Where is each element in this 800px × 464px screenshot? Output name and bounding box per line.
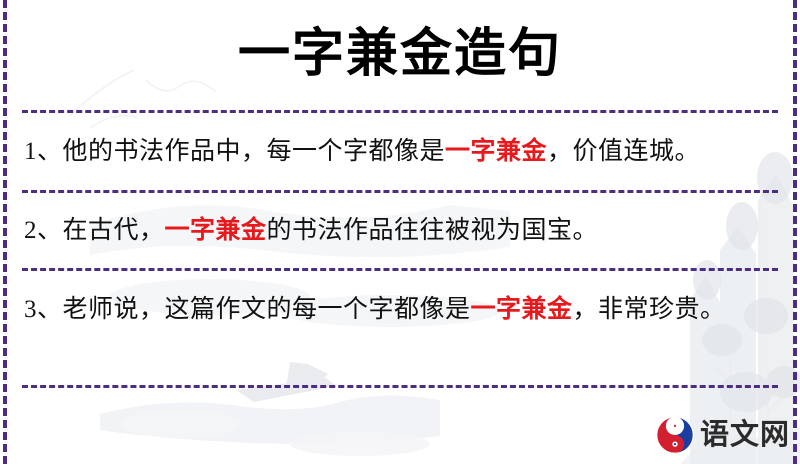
divider-2 — [22, 190, 778, 193]
divider-3 — [22, 268, 778, 271]
sentence-text-after-1: ，价值连城。 — [547, 138, 700, 165]
sentence-text-before-3: 老师说，这篇作文的每一个字都像是 — [63, 296, 471, 323]
sentence-text-after-3: ，非常珍贵。 — [573, 296, 726, 323]
site-logo-text: 语文网 — [700, 418, 790, 452]
sentence-item-3: 3、老师说，这篇作文的每一个字都像是一字兼金，非常珍贵。 — [24, 288, 770, 332]
sentence-number-1: 1、 — [24, 138, 63, 165]
sentence-text-after-2: 的书法作品往往被视为国宝。 — [267, 217, 599, 244]
sentence-text-before-1: 他的书法作品中，每一个字都像是 — [63, 138, 446, 165]
divider-4 — [22, 385, 778, 388]
sentence-text-before-2: 在古代， — [63, 217, 165, 244]
idiom-highlight-1: 一字兼金 — [445, 138, 547, 165]
idiom-highlight-3: 一字兼金 — [471, 296, 573, 323]
site-logo[interactable]: 语文网 — [656, 414, 790, 456]
sentence-number-2: 2、 — [24, 217, 63, 244]
divider-1 — [22, 110, 778, 113]
watermark-boat-bottom-left — [40, 344, 460, 464]
sentence-item-1: 1、他的书法作品中，每一个字都像是一字兼金，价值连城。 — [24, 130, 770, 174]
idiom-highlight-2: 一字兼金 — [165, 217, 267, 244]
sentence-item-2: 2、在古代，一字兼金的书法作品往往被视为国宝。 — [24, 209, 770, 253]
page-title: 一字兼金造句 — [0, 22, 800, 88]
slide-page: 一字兼金造句 1、他的书法作品中，每一个字都像是一字兼金，价值连城。 2、在古代… — [0, 0, 800, 464]
yinyang-fish-logo-icon — [656, 416, 694, 454]
sentence-number-3: 3、 — [24, 296, 63, 323]
